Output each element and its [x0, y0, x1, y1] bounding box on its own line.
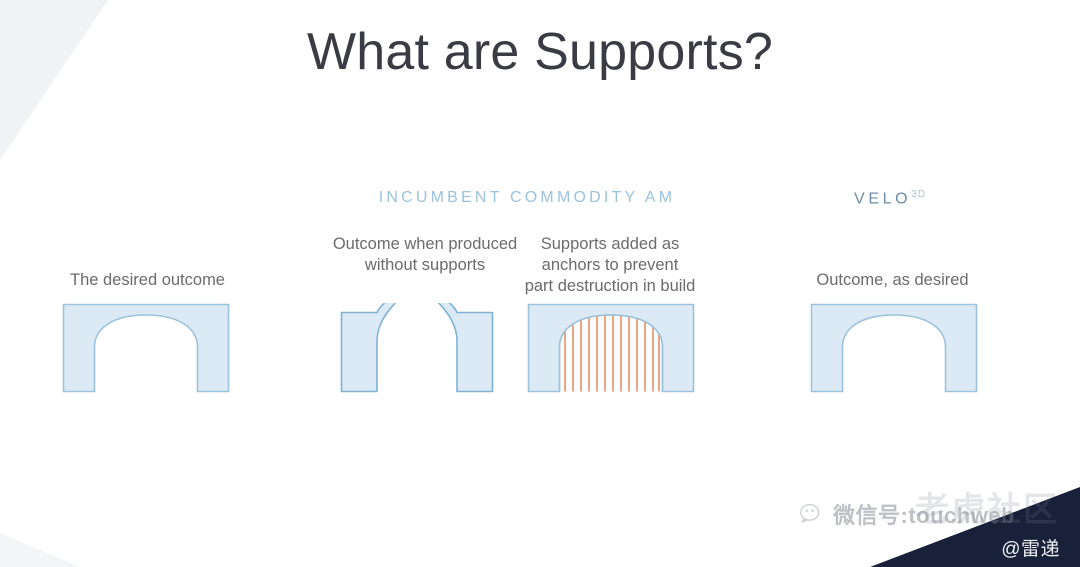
figure-desired-outcome-arch: [62, 303, 230, 393]
figure-collapsed-arch-no-supports: [337, 303, 497, 393]
caption-outcome-without-supports: Outcome when produced without supports: [325, 234, 525, 276]
watermark-wechat-text: 微信号:touchweb: [833, 498, 1015, 530]
page-title: What are Supports?: [0, 22, 1080, 82]
wechat-icon: [800, 503, 826, 525]
watermark-handle: @雷递: [1001, 534, 1060, 561]
velo-wordmark: VELO: [854, 190, 911, 207]
figure-arch-with-supports: [527, 303, 695, 393]
watermark-wechat-row: 微信号:touchweb: [800, 498, 1015, 530]
decorative-corner-wedge-bottom-left: [0, 527, 90, 567]
caption-supports-added: Supports added as anchors to prevent par…: [515, 234, 705, 297]
caption-desired-outcome: The desired outcome: [45, 270, 250, 291]
figure-outcome-as-desired-arch: [810, 303, 978, 393]
section-header-velo: VELO3D: [800, 189, 980, 208]
velo-superscript-3d: 3D: [911, 189, 926, 200]
section-header-incumbent: INCUMBENT COMMODITY AM: [340, 189, 714, 207]
slide-canvas: What are Supports? INCUMBENT COMMODITY A…: [0, 0, 1080, 567]
caption-outcome-as-desired: Outcome, as desired: [790, 270, 995, 291]
